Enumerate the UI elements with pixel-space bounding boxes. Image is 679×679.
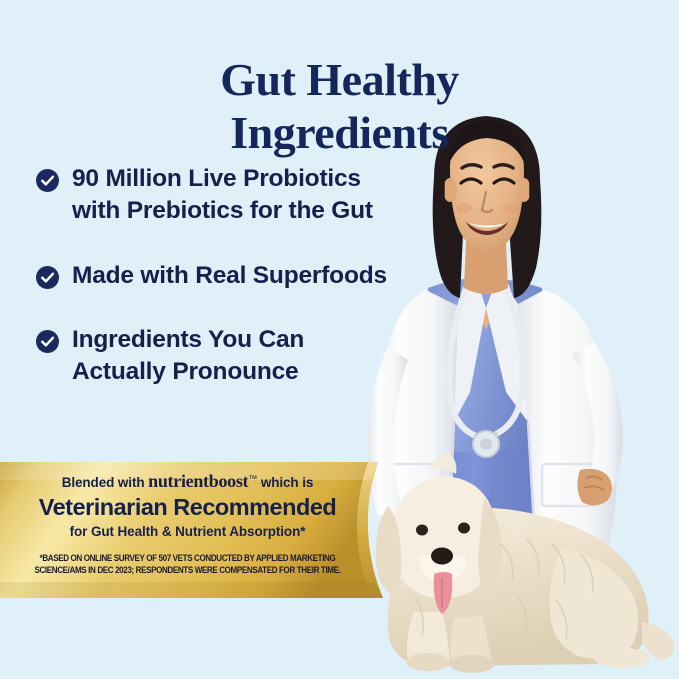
banner-tagline-suffix: which is: [257, 475, 313, 490]
benefit-line-2: with Prebiotics for the Gut: [72, 195, 373, 227]
footnote-line-2: SCIENCE/AMS IN DEC 2023; RESPONDENTS WER…: [30, 565, 345, 577]
benefit-line-1: 90 Million Live Probiotics: [72, 165, 361, 192]
banner-text-block: Blended with nutrientboost™ which is Vet…: [0, 460, 375, 576]
benefit-text: Made with Real Superfoods: [72, 260, 387, 292]
check-circle-icon: [36, 330, 59, 353]
brand-name-nutrientboost: nutrientboost: [148, 471, 248, 491]
benefit-line-1: Ingredients You Can: [72, 326, 304, 353]
banner-tagline-prefix: Blended with: [62, 475, 148, 490]
promo-poster: Gut Healthy Ingredients 90 Million Live …: [0, 0, 679, 679]
benefit-text: Ingredients You Can Actually Pronounce: [72, 324, 304, 389]
list-item: Made with Real Superfoods: [36, 260, 456, 292]
banner-subheadline: for Gut Health & Nutrient Absorption*: [0, 524, 375, 539]
benefit-line-2: Actually Pronounce: [72, 356, 304, 388]
banner-tagline: Blended with nutrientboost™ which is: [0, 471, 375, 492]
banner-headline: Veterinarian Recommended: [0, 494, 375, 521]
page-title: Gut Healthy Ingredients: [0, 53, 679, 160]
benefit-text: 90 Million Live Probiotics with Prebioti…: [72, 163, 373, 228]
list-item: Ingredients You Can Actually Pronounce: [36, 324, 456, 389]
veterinarian-recommended-banner: Blended with nutrientboost™ which is Vet…: [0, 460, 420, 602]
check-circle-icon: [36, 266, 59, 289]
footnote-line-1: *BASED ON ONLINE SURVEY OF 507 VETS COND…: [30, 553, 345, 565]
headline-line-1: Gut Healthy: [220, 54, 459, 105]
banner-footnote: *BASED ON ONLINE SURVEY OF 507 VETS COND…: [30, 553, 345, 576]
benefit-line-1: Made with Real Superfoods: [72, 262, 387, 289]
headline-line-2: Ingredients: [0, 106, 679, 159]
list-item: 90 Million Live Probiotics with Prebioti…: [36, 163, 456, 228]
trademark-symbol: ™: [248, 474, 257, 484]
benefits-list: 90 Million Live Probiotics with Prebioti…: [36, 163, 456, 421]
check-circle-icon: [36, 169, 59, 192]
